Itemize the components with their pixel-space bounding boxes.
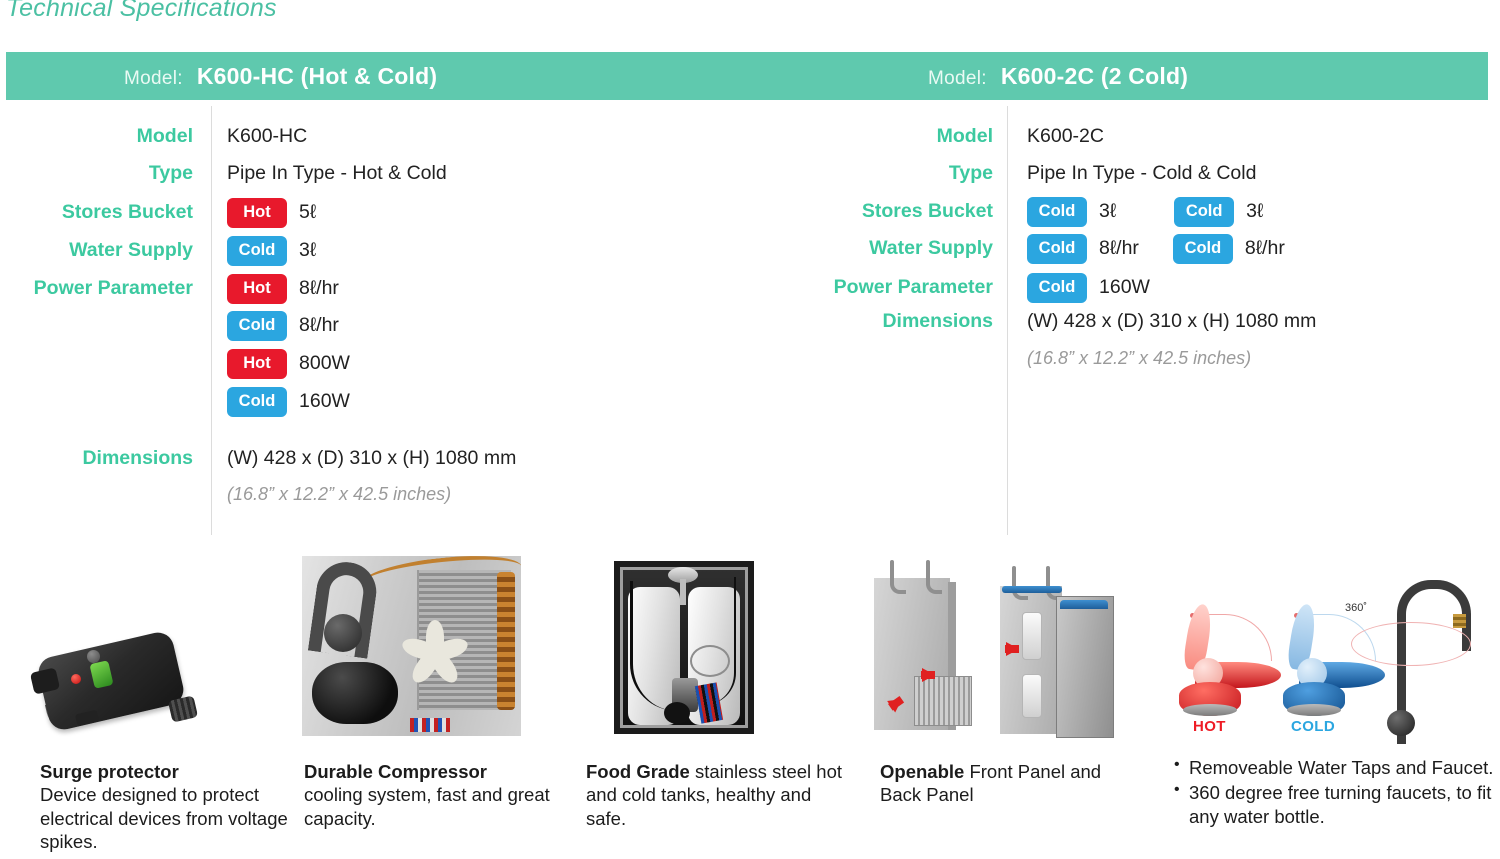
row-power-parameter-item: Cold 160W bbox=[227, 387, 350, 417]
stores-bucket-value: 3ℓ bbox=[1099, 200, 1116, 223]
row-stores-bucket: Stores Bucket Cold 3ℓ Cold 3ℓ bbox=[795, 197, 1263, 227]
header-left-model-value: K600-HC (Hot & Cold) bbox=[197, 63, 437, 90]
water-supply-value: 8ℓ/hr bbox=[1245, 237, 1285, 260]
row-dimensions: Dimensions (W) 428 x (D) 310 x (H) 1080 … bbox=[795, 310, 1316, 333]
feature-caption: Surge protector Device designed to prote… bbox=[40, 760, 298, 854]
badge-hot: Hot bbox=[227, 274, 287, 304]
row-dimensions-inches: (16.8” x 12.2” x 42.5 inches) bbox=[227, 484, 451, 505]
badge-cold: Cold bbox=[227, 236, 287, 266]
row-type: Type Pipe In Type - Hot & Cold bbox=[0, 162, 447, 185]
row-stores-bucket-label: Stores Bucket bbox=[795, 200, 993, 223]
gooseneck-faucet: 360˚ bbox=[1385, 578, 1483, 748]
row-power-parameter: Power Parameter Cold 160W bbox=[795, 273, 1150, 303]
page-title: Technical Specifications bbox=[6, 0, 277, 23]
feature-openable-panel: Openable Front Panel and Back Panel bbox=[860, 548, 1160, 859]
row-type-label: Type bbox=[795, 162, 993, 185]
badge-cold: Cold bbox=[1027, 197, 1087, 227]
badge-cold: Cold bbox=[227, 311, 287, 341]
feature-surge-protector: Surge protector Device designed to prote… bbox=[20, 548, 290, 859]
power-value: 800W bbox=[299, 352, 350, 375]
feature-bullet-list: Removeable Water Taps and Faucet. 360 de… bbox=[1172, 756, 1500, 830]
badge-hot: Hot bbox=[227, 349, 287, 379]
row-model-value: K600-HC bbox=[227, 125, 307, 148]
hot-tap-label: HOT bbox=[1193, 718, 1226, 735]
row-dimensions-value: (W) 428 x (D) 310 x (H) 1080 mm bbox=[1027, 310, 1316, 333]
row-stores-bucket-label: Stores Bucket bbox=[0, 201, 193, 224]
row-water-supply: Water Supply Cold 3ℓ bbox=[0, 236, 316, 266]
badge-cold: Cold bbox=[1174, 197, 1234, 227]
hot-tap: HOT bbox=[1171, 578, 1281, 748]
row-model-value: K600-2C bbox=[1027, 125, 1104, 148]
row-dimensions-value: (W) 428 x (D) 310 x (H) 1080 mm bbox=[227, 447, 516, 470]
surge-protector-photo bbox=[26, 626, 206, 746]
badge-cold: Cold bbox=[1027, 273, 1087, 303]
row-dimensions-label: Dimensions bbox=[0, 447, 193, 470]
feature-caption: Food Grade stainless steel hot and cold … bbox=[586, 760, 852, 830]
row-water-supply-label: Water Supply bbox=[795, 237, 993, 260]
header-right-model-value: K600-2C (2 Cold) bbox=[1001, 63, 1188, 90]
spec-panels: Model K600-HC Type Pipe In Type - Hot & … bbox=[0, 103, 1500, 535]
row-dimensions-inches-value: (16.8” x 12.2” x 42.5 inches) bbox=[227, 484, 451, 505]
openable-panel-photo bbox=[860, 556, 1120, 744]
water-tanks-photo bbox=[614, 561, 754, 734]
row-stores-bucket: Stores Bucket Hot 5ℓ bbox=[0, 198, 316, 228]
spec-panel-right: Model K600-2C Type Pipe In Type - Cold &… bbox=[795, 103, 1500, 535]
row-power-parameter-label: Power Parameter bbox=[0, 277, 193, 300]
badge-cold: Cold bbox=[1173, 234, 1233, 264]
row-type-value: Pipe In Type - Cold & Cold bbox=[1027, 162, 1256, 185]
list-item: Removeable Water Taps and Faucet. bbox=[1172, 756, 1500, 779]
feature-heading: Openable bbox=[880, 761, 964, 782]
power-value: 160W bbox=[1099, 276, 1150, 299]
cold-tap-label: COLD bbox=[1291, 718, 1335, 735]
badge-hot: Hot bbox=[227, 198, 287, 228]
row-dimensions-inches: (16.8” x 12.2” x 42.5 inches) bbox=[1027, 348, 1251, 369]
row-dimensions-inches-value: (16.8” x 12.2” x 42.5 inches) bbox=[1027, 348, 1251, 369]
feature-heading: Durable Compressor bbox=[304, 761, 487, 782]
feature-removable-faucets: HOT COLD bbox=[1155, 548, 1500, 859]
feature-heading: Food Grade bbox=[586, 761, 690, 782]
row-type-label: Type bbox=[0, 162, 193, 185]
removable-faucets-photo: HOT COLD bbox=[1163, 578, 1483, 748]
feature-heading: Surge protector bbox=[40, 761, 179, 782]
badge-cold: Cold bbox=[1027, 234, 1087, 264]
feature-durable-compressor: Durable Compressor cooling system, fast … bbox=[290, 548, 580, 859]
row-dimensions: Dimensions (W) 428 x (D) 310 x (H) 1080 … bbox=[0, 447, 516, 470]
feature-food-grade-tanks: Food Grade stainless steel hot and cold … bbox=[580, 548, 860, 859]
power-value: 8ℓ/hr bbox=[299, 277, 339, 300]
row-water-supply-value: 3ℓ bbox=[299, 239, 316, 262]
header-right-model-label: Model: bbox=[928, 68, 987, 90]
row-water-supply: Water Supply Cold 8ℓ/hr Cold 8ℓ/hr bbox=[795, 234, 1285, 264]
row-water-supply-label: Water Supply bbox=[0, 239, 193, 262]
row-type-value: Pipe In Type - Hot & Cold bbox=[227, 162, 447, 185]
row-power-parameter-item: Hot 800W bbox=[227, 349, 350, 379]
row-power-parameter-label: Power Parameter bbox=[795, 276, 993, 299]
power-value: 160W bbox=[299, 390, 350, 413]
row-model: Model K600-2C bbox=[795, 125, 1104, 148]
cold-tap: COLD bbox=[1275, 578, 1385, 748]
feature-strip: Surge protector Device designed to prote… bbox=[0, 548, 1500, 859]
badge-cold: Cold bbox=[227, 387, 287, 417]
compressor-photo bbox=[302, 556, 521, 736]
technical-specifications-page: Technical Specifications Model: K600-HC … bbox=[0, 0, 1500, 859]
header-left-model-label: Model: bbox=[124, 68, 183, 90]
feature-caption: Durable Compressor cooling system, fast … bbox=[304, 760, 574, 830]
row-model-label: Model bbox=[0, 125, 193, 148]
row-power-parameter: Power Parameter Hot 8ℓ/hr bbox=[0, 274, 339, 304]
header-cell-left: Model: K600-HC (Hot & Cold) bbox=[6, 52, 1007, 100]
row-model-label: Model bbox=[795, 125, 993, 148]
list-item: 360 degree free turning faucets, to fit … bbox=[1172, 781, 1500, 828]
row-model: Model K600-HC bbox=[0, 125, 307, 148]
feature-body: Device designed to protect electrical de… bbox=[40, 784, 288, 852]
feature-caption: Openable Front Panel and Back Panel bbox=[880, 760, 1130, 807]
stores-bucket-value: 3ℓ bbox=[1246, 200, 1263, 223]
water-supply-value: 8ℓ/hr bbox=[1099, 237, 1139, 260]
rotation-label: 360˚ bbox=[1345, 602, 1367, 614]
power-value: 8ℓ/hr bbox=[299, 314, 339, 337]
row-stores-bucket-value: 5ℓ bbox=[299, 201, 316, 224]
feature-body: cooling system, fast and great capacity. bbox=[304, 784, 550, 828]
row-type: Type Pipe In Type - Cold & Cold bbox=[795, 162, 1256, 185]
row-power-parameter-item: Cold 8ℓ/hr bbox=[227, 311, 339, 341]
row-dimensions-label: Dimensions bbox=[795, 310, 993, 333]
model-header-band: Model: K600-HC (Hot & Cold) Model: K600-… bbox=[6, 52, 1488, 100]
header-cell-right: Model: K600-2C (2 Cold) bbox=[1007, 52, 1488, 100]
